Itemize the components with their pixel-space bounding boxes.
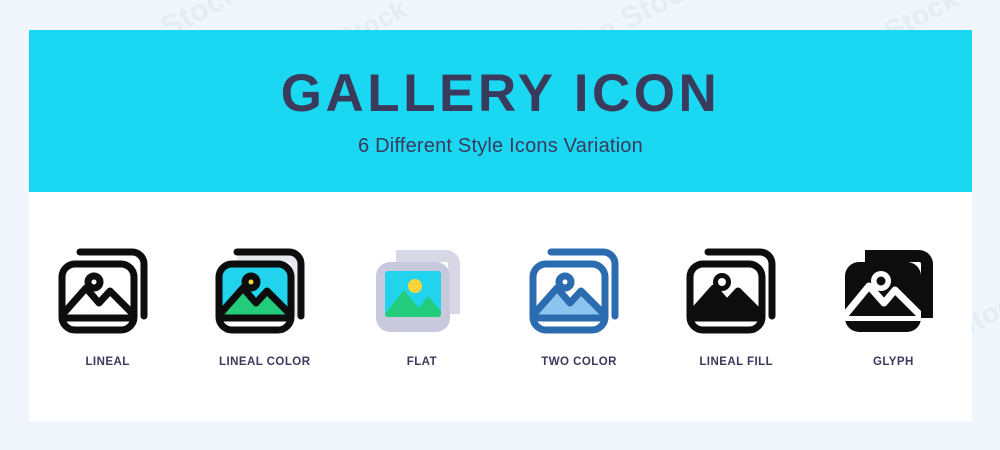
- icon-cell-two-color[interactable]: TWO COLOR: [504, 230, 654, 368]
- watermark-strip: Adobe Stock | #150984172 1: [0, 0, 29, 450]
- icon-cell-lineal[interactable]: LINEAL: [33, 230, 183, 368]
- icon-cell-lineal-color[interactable]: LINEAL COLOR: [190, 230, 340, 368]
- gallery-icon-lineal[interactable]: [52, 230, 164, 342]
- page-subtitle: 6 Different Style Icons Variation: [358, 136, 643, 156]
- icon-cell-flat[interactable]: FLAT: [347, 230, 497, 368]
- gallery-icon-glyph[interactable]: [837, 230, 949, 342]
- gallery-icon-flat[interactable]: [366, 230, 478, 342]
- header-band: GALLERY ICON 6 Different Style Icons Var…: [29, 30, 972, 192]
- icon-label-lineal: LINEAL: [85, 356, 129, 368]
- content-card: GALLERY ICON 6 Different Style Icons Var…: [29, 30, 972, 421]
- gallery-icon-lineal-color[interactable]: [209, 230, 321, 342]
- page-title: GALLERY ICON: [281, 67, 721, 120]
- icon-cell-lineal-fill[interactable]: LINEAL FILL: [661, 230, 811, 368]
- icon-label-two-color: TWO COLOR: [541, 356, 617, 368]
- icon-label-glyph: GLYPH: [873, 356, 914, 368]
- icon-cell-glyph[interactable]: GLYPH: [818, 230, 968, 368]
- gallery-icon-lineal-fill[interactable]: [680, 230, 792, 342]
- icon-label-flat: FLAT: [407, 356, 437, 368]
- gallery-icon-two-color[interactable]: [523, 230, 635, 342]
- icon-label-lineal-color: LINEAL COLOR: [219, 356, 310, 368]
- icon-variation-row: LINEAL: [29, 192, 972, 421]
- icon-label-lineal-fill: LINEAL FILL: [699, 356, 773, 368]
